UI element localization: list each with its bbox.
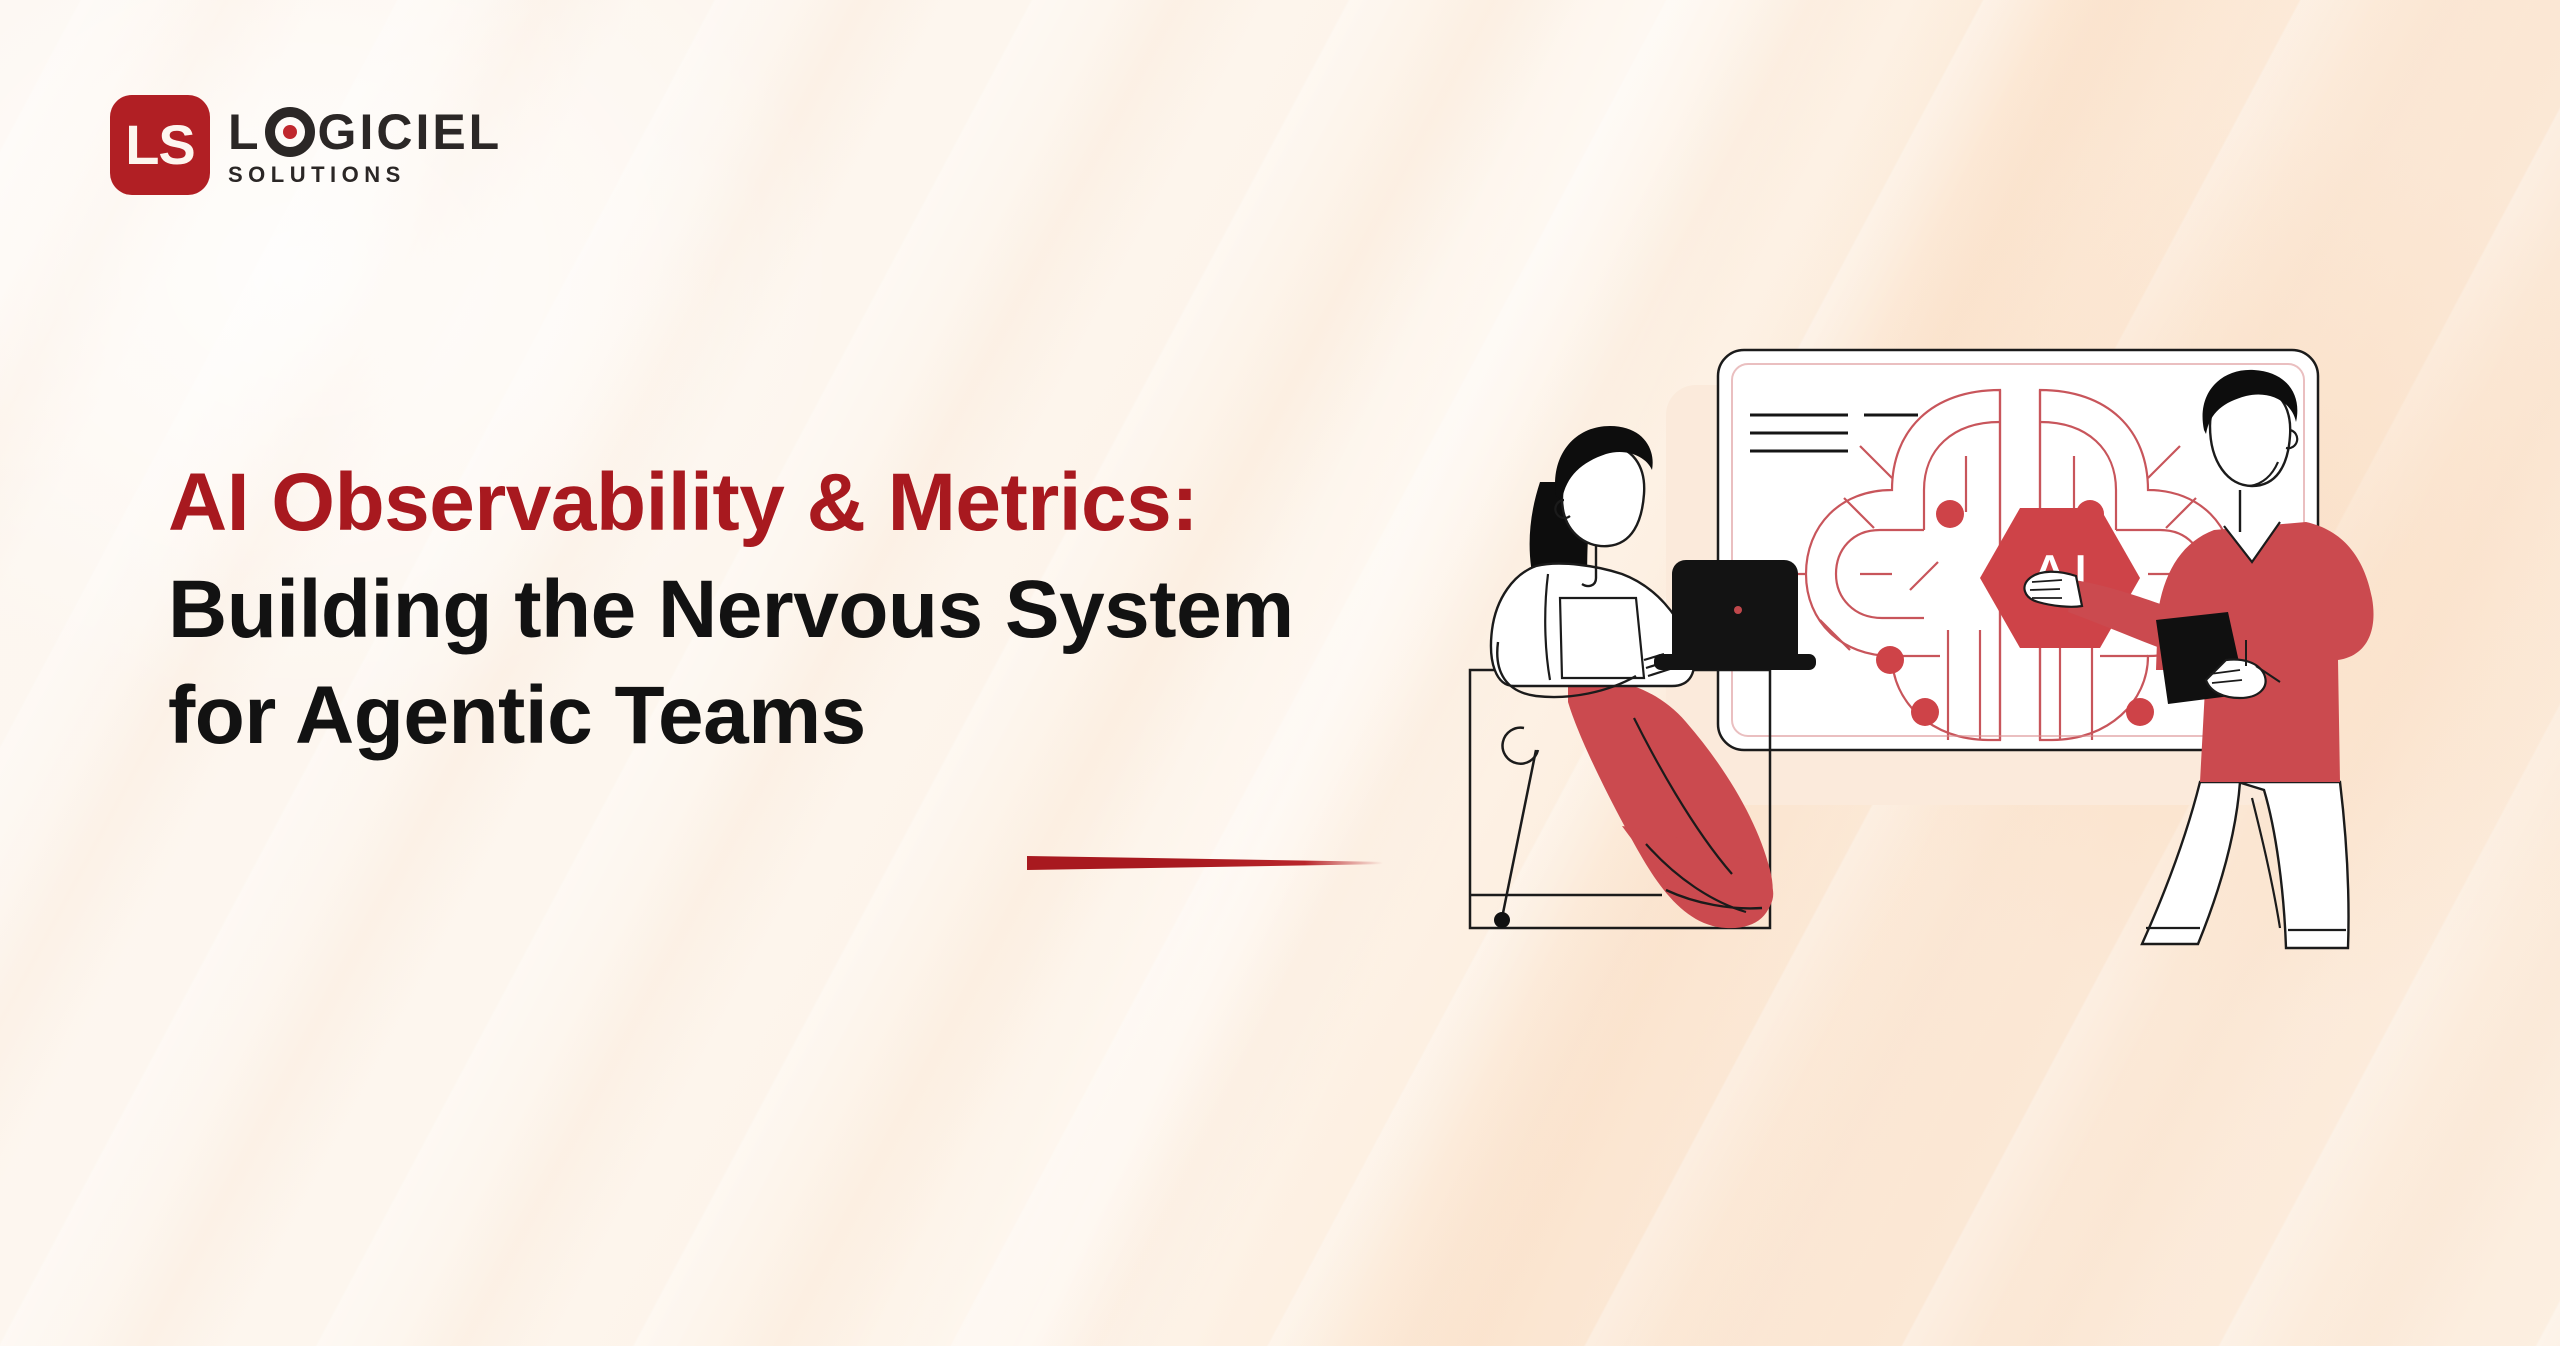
title-underline-accent xyxy=(1027,856,1383,870)
logo-mark-label: LS xyxy=(125,117,195,173)
logo-target-o-icon xyxy=(265,107,315,157)
logo-name-suffix: GICIEL xyxy=(318,107,503,157)
page-title-accent: AI Observability & Metrics: xyxy=(168,457,1198,548)
page-title-rest: Building the Nervous System for Agentic … xyxy=(168,564,1294,762)
logo-company-name: L GICIEL xyxy=(228,107,502,157)
brand-logo[interactable]: LS L GICIEL SOLUTIONS xyxy=(110,95,502,195)
logo-tagline: SOLUTIONS xyxy=(228,164,502,186)
logo-wordmark: L GICIEL SOLUTIONS xyxy=(228,107,502,186)
laptop-logo-dot xyxy=(1734,606,1742,614)
logo-mark-icon: LS xyxy=(110,95,210,195)
laptop-base xyxy=(1654,654,1816,670)
man-leg-left xyxy=(2142,782,2240,944)
page-title: AI Observability & Metrics: Building the… xyxy=(168,450,1398,770)
logo-name-prefix: L xyxy=(228,107,262,157)
laptop xyxy=(1654,560,1816,670)
blog-banner: LS L GICIEL SOLUTIONS AI Observability &… xyxy=(0,0,2560,1346)
hero-illustration: AI xyxy=(1440,330,2460,1010)
